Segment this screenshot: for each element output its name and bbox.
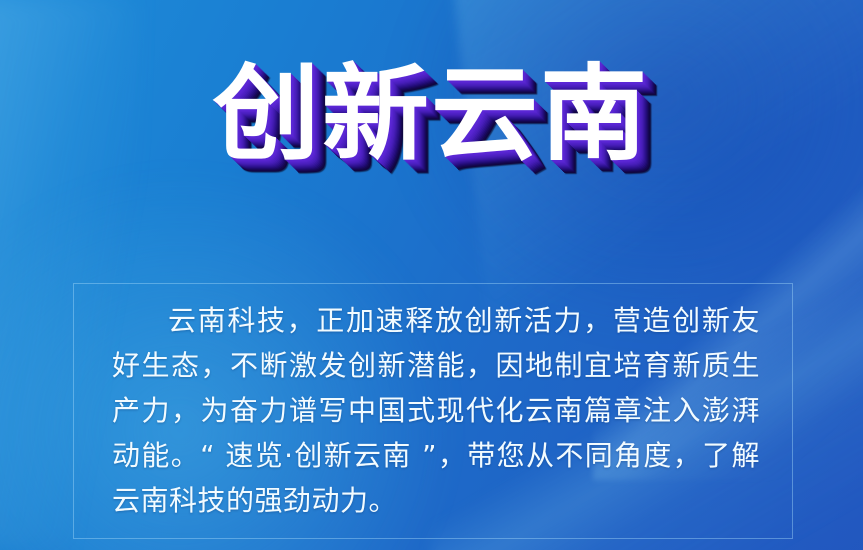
description-card: 云南科技，正加速释放创新活力，营造创新友好生态，不断激发创新潜能，因地制宜培育新… — [73, 283, 793, 539]
page-title: 创新云南 — [213, 62, 650, 166]
description-paragraph: 云南科技，正加速释放创新活力，营造创新友好生态，不断激发创新潜能，因地制宜培育新… — [112, 298, 760, 523]
poster-canvas: 创新云南 云南科技，正加速释放创新活力，营造创新友好生态，不断激发创新潜能，因地… — [0, 0, 863, 550]
headline-block: 创新云南 — [0, 62, 863, 166]
